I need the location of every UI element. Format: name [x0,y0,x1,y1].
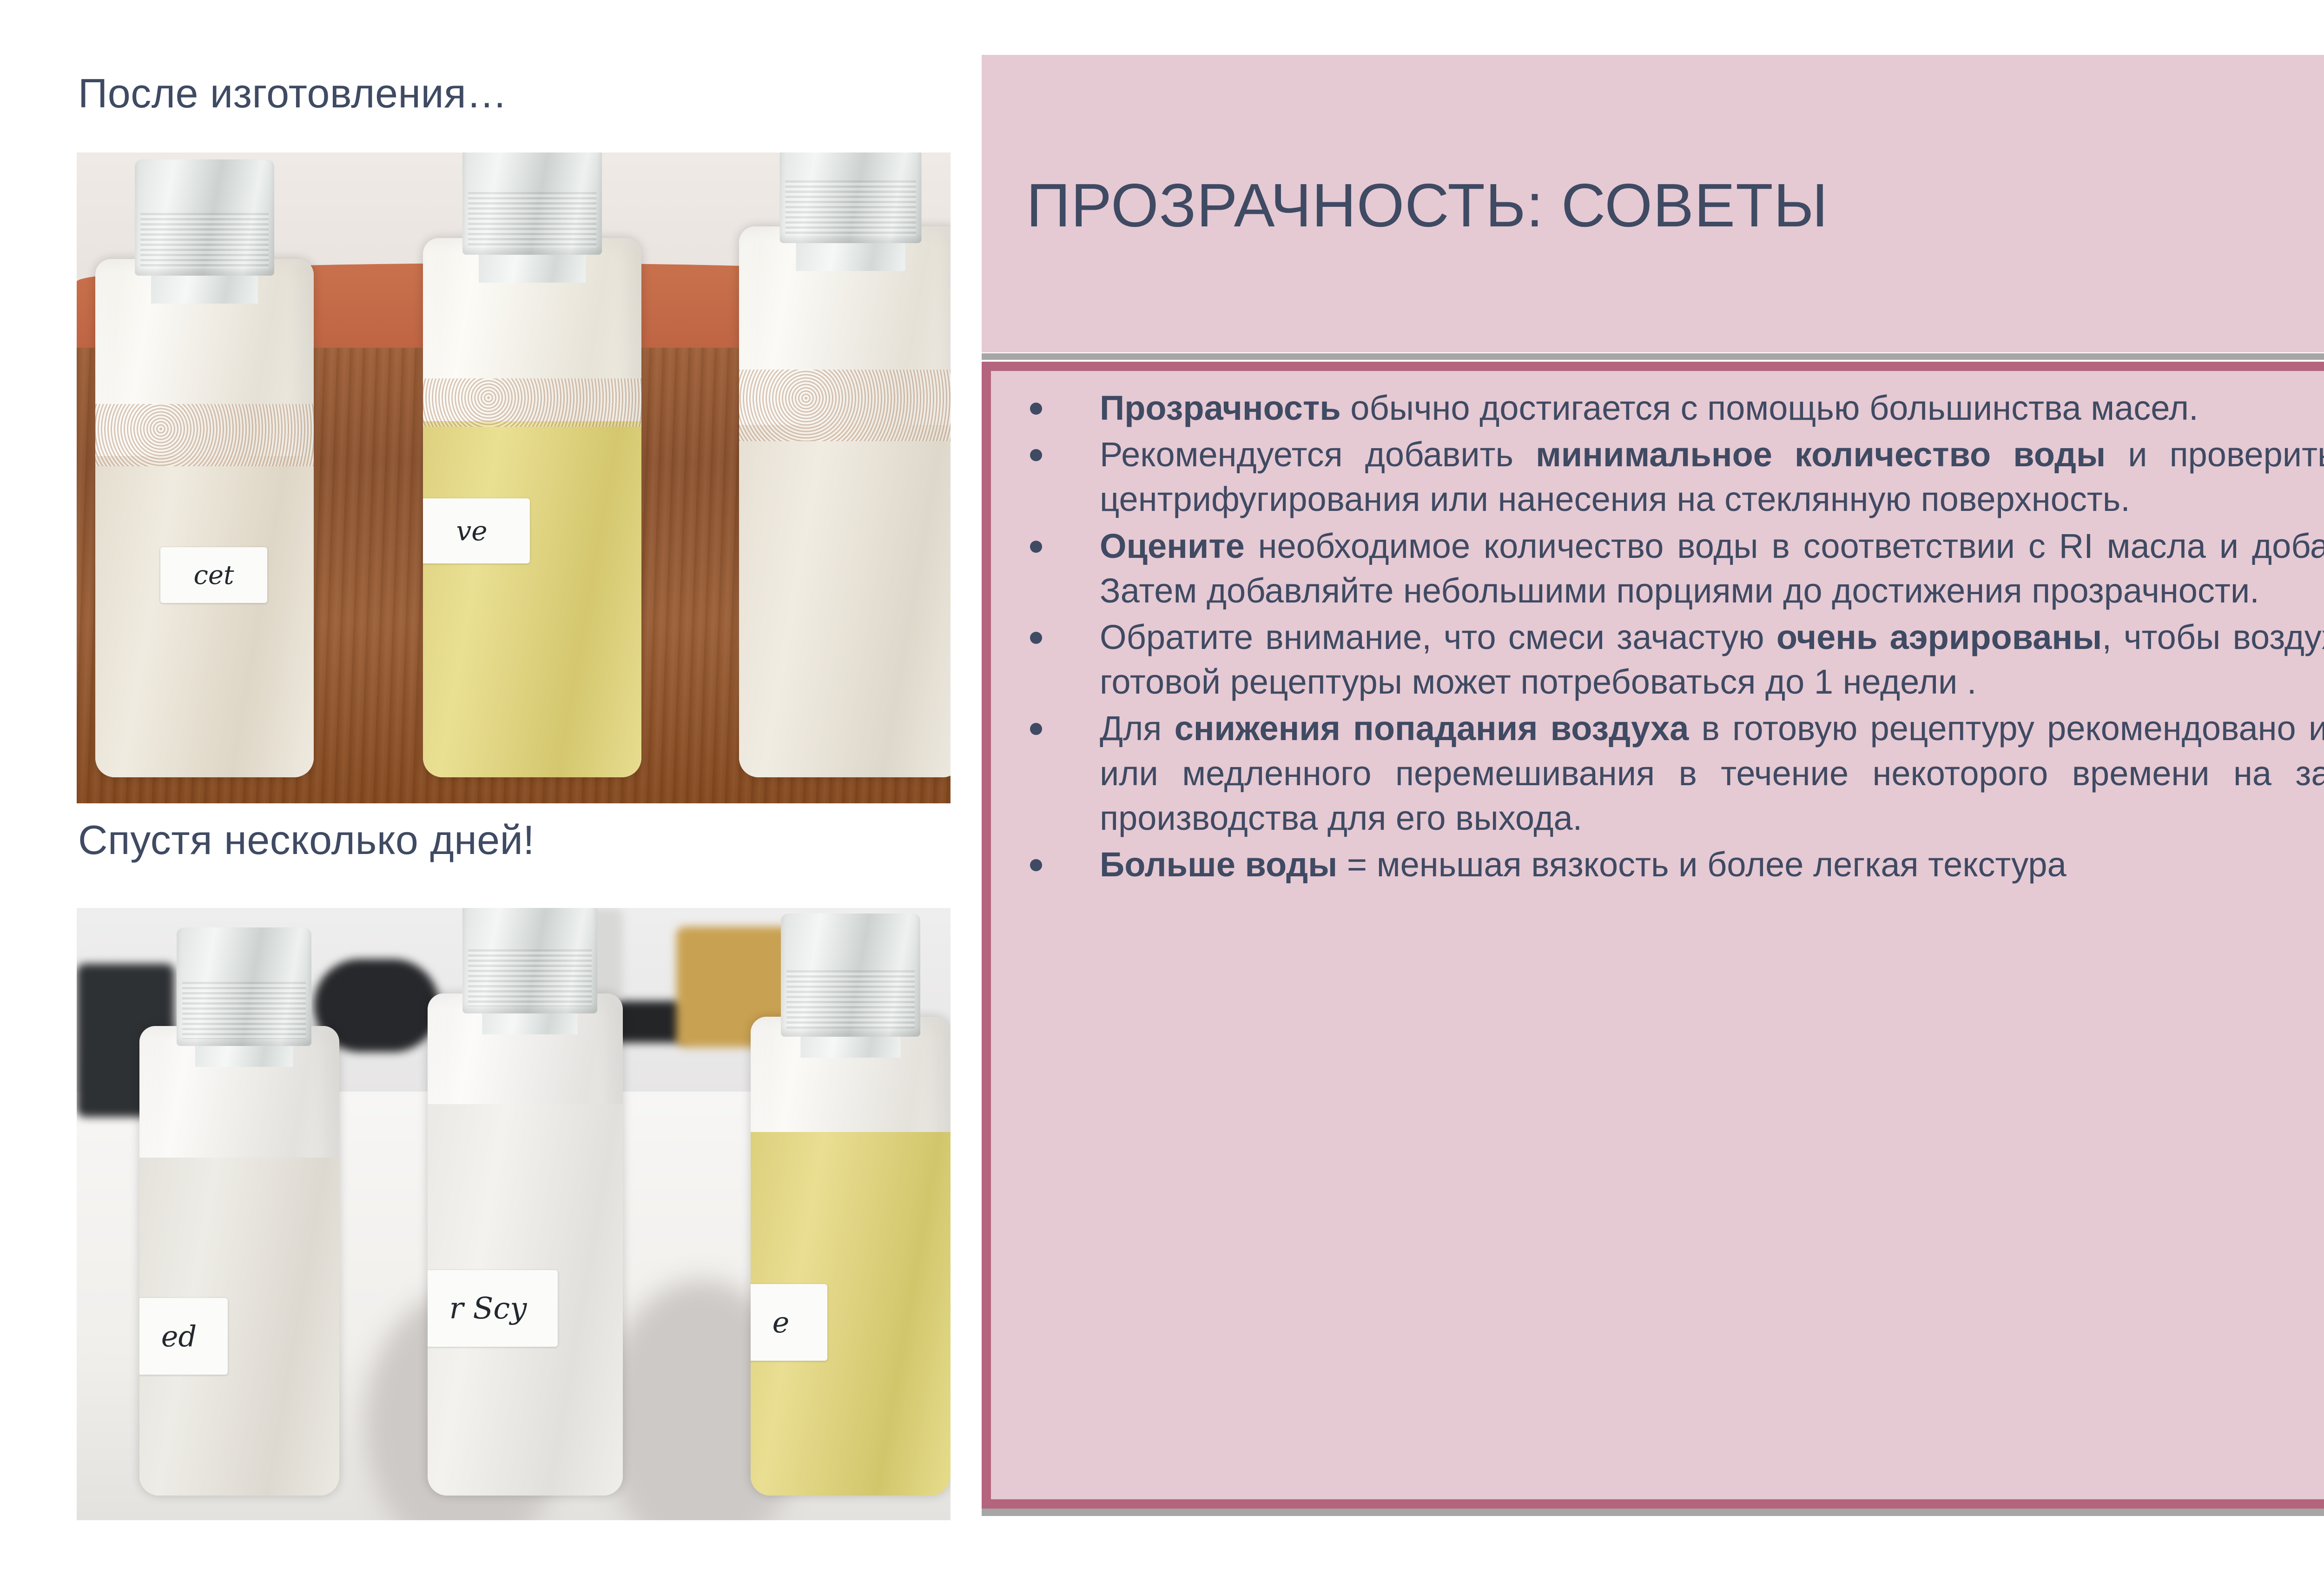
bottle-aged-2-cap [462,908,597,1013]
bottle-fresh-2-liquid [423,421,641,777]
bottle-fresh-3-foam [739,370,951,441]
bottle-aged-3-cap [781,914,920,1037]
bottle-aged-1-label: ed [139,1298,228,1375]
photo-fresh-scene: cet ve [77,152,951,803]
photo-aged-scene: ed r Scy e [77,908,951,1520]
bullet-text-emphasis: снижения попадания воздуха [1175,709,1689,748]
right-content-column: ПРОЗРАЧНОСТЬ: СОВЕТЫ Прозрачность обычно… [957,0,2324,1569]
bullet-item: Для снижения попадания воздуха в готовую… [1013,706,2324,841]
bottle-fresh-1-foam [95,404,314,466]
body-bottom-divider [982,1509,2324,1516]
caption-after-manufacture: После изготовления… [78,70,508,117]
bullet-item: Оцените необходимое количество воды в со… [1013,524,2324,613]
bullet-item: Больше воды = меньшая вязкость и более л… [1013,842,2324,887]
caption-after-several-days: Спустя несколько дней! [78,816,535,864]
bottle-aged-1-cap [177,927,311,1046]
bottle-fresh-1-liquid [95,456,314,777]
bullet-text-emphasis: Больше воды [1100,845,1337,884]
bullet-text: Обратите внимание, что смеси зачастую [1100,618,1776,656]
bottle-fresh-1-label: cet [160,547,267,603]
bullet-text-emphasis: минимальное количество воды [1536,435,2106,474]
bottle-fresh-1-cap [135,159,274,276]
left-photo-column: После изготовления… cet ve [0,0,957,1569]
bullet-text-emphasis: Оцените [1100,527,1245,565]
bullet-text-emphasis: Прозрачность [1100,389,1341,427]
bullet-dot-icon [1030,449,1042,461]
bullet-text: = меньшая вязкость и более легкая тексту… [1337,845,2066,884]
page-title: ПРОЗРАЧНОСТЬ: СОВЕТЫ [1026,170,1829,240]
bullet-item: Прозрачность обычно достигается с помощь… [1013,386,2324,430]
bullet-dot-icon [1030,632,1042,644]
bullet-dot-icon [1030,859,1042,871]
body-content-inner: Прозрачность обычно достигается с помощь… [991,371,2324,1499]
bottle-fresh-2-foam [423,378,641,427]
bottle-aged-2: r Scy [428,993,623,1496]
bottle-fresh-3 [739,226,951,777]
bottle-fresh-3-liquid [739,425,951,777]
bottle-aged-3: e [751,1017,951,1496]
bullet-text-emphasis: очень аэрированы [1776,618,2102,656]
bullet-text: Для [1100,709,1175,748]
title-divider [982,353,2324,360]
bottle-fresh-2-label: ve [423,498,530,563]
bottle-aged-2-label: r Scy [428,1270,558,1347]
bottle-fresh-2: ve [423,238,641,777]
photo-bottles-aged: ed r Scy e [77,908,951,1520]
photo-bottles-fresh: cet ve [77,152,951,803]
bottle-fresh-3-cap [780,152,922,243]
bottle-fresh-2-cap [462,152,602,255]
body-content-box: Прозрачность обычно достигается с помощь… [982,362,2324,1509]
bullet-dot-icon [1030,541,1042,553]
bullet-dot-icon [1030,723,1042,735]
bottle-aged-1: ed [139,1026,339,1496]
bullet-item: Обратите внимание, что смеси зачастую оч… [1013,615,2324,704]
bullet-dot-icon [1030,403,1042,415]
bullet-item: Рекомендуется добавить минимальное колич… [1013,432,2324,522]
bullet-text: необходимое количество воды в соответств… [1100,527,2324,610]
tips-bullet-list: Прозрачность обычно достигается с помощь… [1013,386,2324,887]
bottle-aged-3-label: e [751,1284,827,1361]
bottle-fresh-1: cet [95,259,314,777]
bullet-text: Рекомендуется добавить [1100,435,1536,474]
bullet-text: обычно достигается с помощью большинства… [1341,389,2199,427]
